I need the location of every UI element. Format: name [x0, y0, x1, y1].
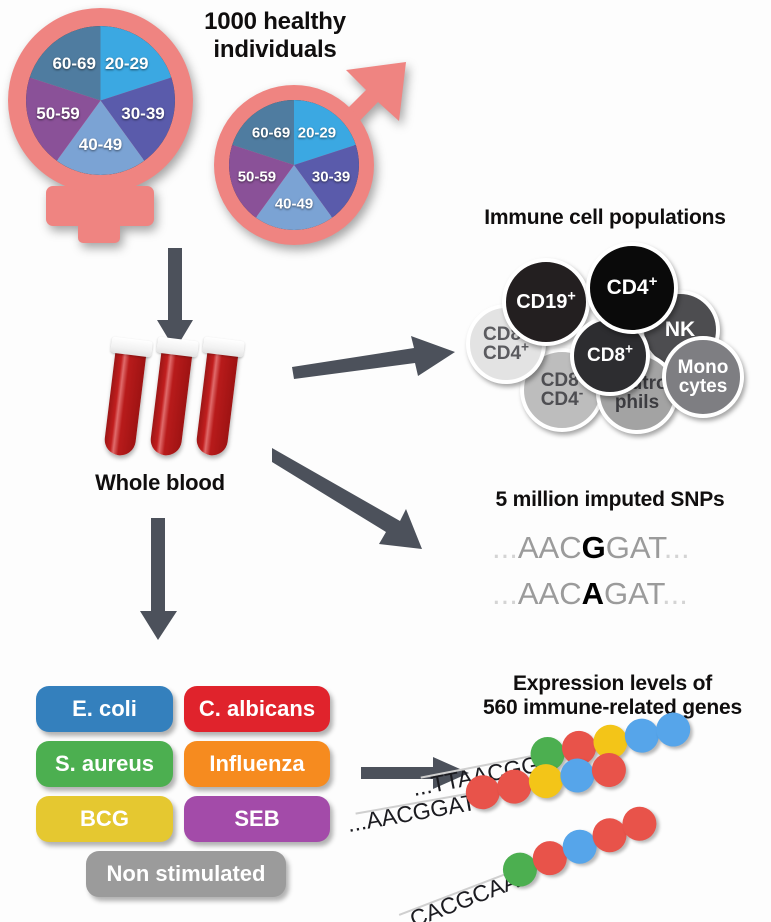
immune-cell-label: NK	[665, 319, 695, 340]
gene-bead	[528, 734, 568, 774]
gene-bead	[526, 761, 565, 800]
male-gender-symbol: 20-2930-3940-4950-5960-69	[206, 62, 412, 247]
cohort-title: 1000 healthy individuals	[160, 8, 390, 64]
gene-bead	[498, 848, 542, 892]
female-gender-symbol: 20-2930-3940-4950-5960-69	[8, 8, 193, 243]
immune-cell-cd8: CD8+	[570, 316, 650, 396]
snp-variant-base: A	[582, 576, 604, 611]
female-age-pie: 20-2930-3940-4950-5960-69	[26, 26, 175, 175]
stimulus-s-aureus[interactable]: S. aureus	[36, 741, 173, 787]
arrow-blood-to-snps	[272, 448, 447, 553]
blood-tube	[149, 346, 193, 457]
stimulus-seb[interactable]: SEB	[184, 796, 330, 842]
strand-baseline	[399, 871, 512, 916]
arrow-stimuli-to-expression	[361, 757, 471, 791]
snp-suffix-ellipsis: ...	[662, 576, 688, 611]
expression-title-line2: 560 immune-related genes	[455, 696, 770, 720]
snps-title: 5 million imputed SNPs	[455, 488, 765, 512]
age-group-label-40-49: 40-49	[79, 135, 122, 155]
stimulus-bcg[interactable]: BCG	[36, 796, 173, 842]
age-group-label-40-49: 40-49	[275, 196, 313, 213]
snp-left-bases: AAC	[518, 576, 582, 611]
blood-tube-body	[195, 346, 239, 457]
expression-title-line1: Expression levels of	[455, 672, 770, 696]
immune-cell-label: Monocytes	[678, 358, 729, 397]
age-group-label-30-39: 30-39	[312, 169, 350, 186]
immune-cell-populations-title: Immune cell populations	[440, 206, 770, 230]
blood-tube-body	[103, 346, 147, 457]
blood-tube	[195, 346, 239, 457]
age-group-label-20-29: 20-29	[298, 125, 336, 142]
age-group-label-50-59: 50-59	[36, 104, 79, 124]
age-group-label-20-29: 20-29	[105, 54, 148, 74]
immune-cell-label: CD8+CD4+	[483, 325, 529, 364]
arrow-blood-to-immune-cells	[292, 330, 457, 380]
stimulus-non-stimulated[interactable]: Non stimulated	[86, 851, 286, 897]
blood-tube	[103, 346, 147, 457]
age-group-label-60-69: 60-69	[252, 125, 290, 142]
blood-tube-body	[149, 346, 193, 457]
gene-bead	[558, 825, 602, 869]
snp-sequence-row: ...AACAGAT...	[492, 576, 688, 612]
snp-sequence-row: ...AACGGAT...	[492, 530, 690, 566]
immune-cell-cd4: CD4+	[586, 242, 678, 334]
gene-bead	[588, 813, 632, 857]
arrow-blood-to-stimuli	[137, 518, 181, 643]
strand-baseline	[355, 792, 474, 815]
gene-bead	[590, 722, 630, 762]
immune-cell-label: CD8-CD4-	[541, 371, 584, 410]
snp-right-bases: GAT	[604, 576, 662, 611]
snp-suffix-ellipsis: ...	[664, 530, 690, 565]
immune-cell-cd8-cd4: CD8+CD4+	[466, 304, 546, 384]
gene-bead	[559, 728, 599, 768]
strand-sequence-text: ...CACGCAA	[388, 867, 522, 922]
snp-prefix-ellipsis: ...	[492, 530, 518, 565]
snp-prefix-ellipsis: ...	[492, 576, 518, 611]
gene-bead	[622, 716, 662, 756]
gene-bead	[589, 750, 628, 789]
snp-variant-base: G	[582, 530, 606, 565]
age-group-label-50-59: 50-59	[238, 169, 276, 186]
cohort-title-line2: individuals	[160, 36, 390, 64]
immune-cell-label: CD19+	[516, 292, 576, 312]
immune-cell-nk: NK	[640, 290, 720, 370]
immune-cell-label: CD4+	[607, 277, 658, 298]
whole-blood-tubes	[110, 340, 270, 470]
immune-cell-label: Neutrophils	[606, 374, 667, 413]
gene-bead	[558, 756, 597, 795]
gene-bead	[617, 802, 661, 846]
age-group-label-60-69: 60-69	[52, 54, 95, 74]
stimulus-e-coli[interactable]: E. coli	[36, 686, 173, 732]
strand-sequence-text: ...AACGGAT	[345, 789, 478, 838]
immune-cell-label: CD8+	[587, 346, 633, 365]
whole-blood-label: Whole blood	[60, 470, 260, 496]
gene-bead	[528, 836, 572, 880]
stimulus-influenza[interactable]: Influenza	[184, 741, 330, 787]
study-design-figure: 1000 healthy individuals 20-2930-3940-49…	[0, 0, 771, 922]
immune-cell-cd19: CD19+	[502, 258, 590, 346]
gene-bead	[495, 767, 534, 806]
snp-left-bases: AAC	[518, 530, 582, 565]
immune-cell-neutro-phils: Neutrophils	[596, 352, 678, 434]
cohort-title-line1: 1000 healthy	[160, 8, 390, 36]
stimulus-c-albicans[interactable]: C. albicans	[184, 686, 330, 732]
snp-right-bases: GAT	[606, 530, 664, 565]
age-group-label-30-39: 30-39	[121, 104, 164, 124]
immune-cell-cd8-cd4: CD8-CD4-	[520, 348, 604, 432]
expression-title: Expression levels of 560 immune-related …	[455, 672, 770, 721]
male-age-pie: 20-2930-3940-4950-5960-69	[229, 100, 359, 230]
immune-cell-mono-cytes: Monocytes	[662, 336, 744, 418]
